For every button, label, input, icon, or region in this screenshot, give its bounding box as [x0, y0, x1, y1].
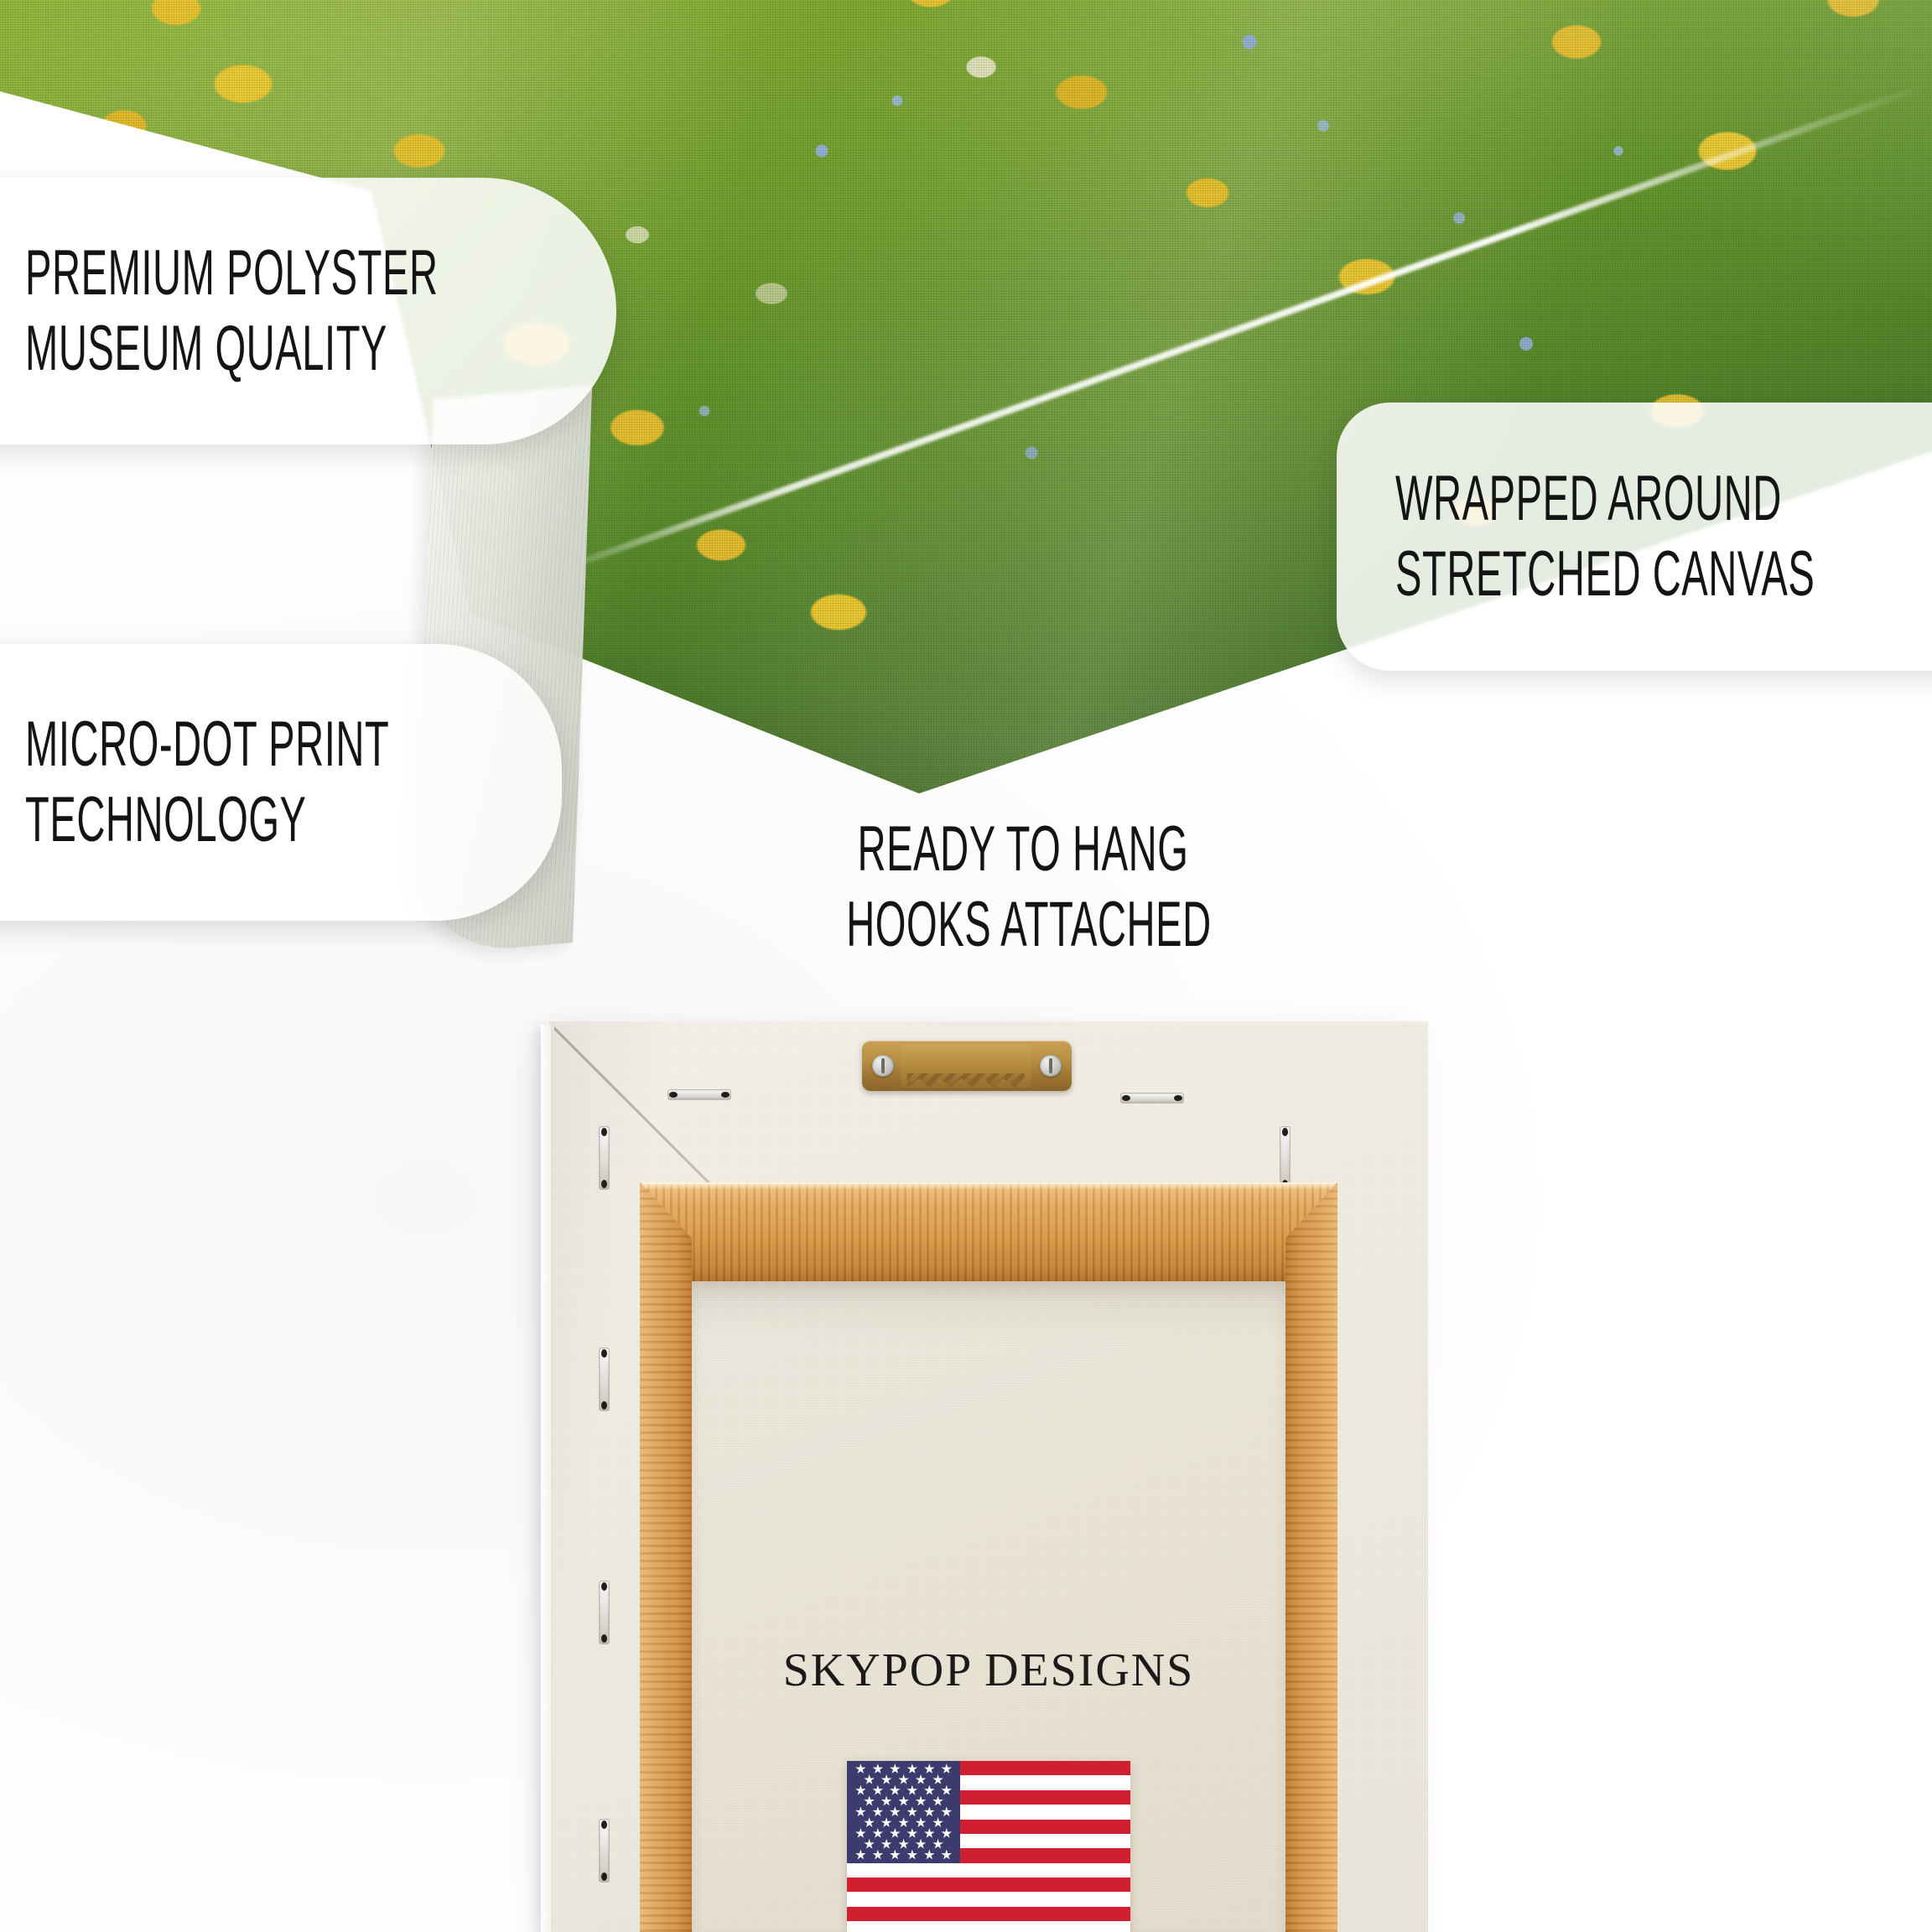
flag-star: [864, 1796, 875, 1807]
flag-star: [932, 1817, 943, 1828]
feature-badge-premium: PREMIUM POLYSTER MUSEUM QUALITY: [0, 178, 616, 444]
flag-star: [924, 1763, 935, 1774]
hanger-screw-right: [1040, 1055, 1062, 1077]
stretcher-bar-left: [640, 1182, 692, 1932]
flag-star: [872, 1850, 883, 1861]
product-infographic: PREMIUM POLYSTER MUSEUM QUALITY WRAPPED …: [0, 0, 1932, 1932]
feature-text-ready-line2: HOOKS ATTACHED: [846, 887, 1200, 963]
flag-stripe: [847, 1892, 1130, 1906]
flag-star: [941, 1763, 952, 1774]
feature-badge-wrapped-line1: WRAPPED AROUND: [1395, 461, 1769, 537]
flag-star: [941, 1850, 952, 1861]
flag-star: [855, 1785, 866, 1796]
sawtooth-hanger-icon: [862, 1041, 1072, 1091]
flag-canton: [847, 1761, 960, 1863]
flag-star: [881, 1817, 892, 1828]
flag-star: [890, 1850, 901, 1861]
flag-star: [932, 1796, 943, 1807]
wooden-stretcher-frame: SKYPOP DESIGNS: [640, 1182, 1337, 1932]
staple: [600, 1127, 609, 1189]
flag-star: [941, 1806, 952, 1817]
flag-star: [916, 1839, 927, 1850]
flag-star: [890, 1785, 901, 1796]
flag-star: [916, 1817, 927, 1828]
staple: [1121, 1093, 1183, 1103]
flag-star: [855, 1850, 866, 1861]
flag-star: [855, 1763, 866, 1774]
flag-star: [872, 1806, 883, 1817]
flag-star: [924, 1785, 935, 1796]
flag-star: [898, 1774, 909, 1785]
flag-star: [890, 1763, 901, 1774]
flag-star: [855, 1828, 866, 1839]
flag-star: [916, 1774, 927, 1785]
flag-star: [906, 1806, 917, 1817]
flag-stripe: [847, 1863, 1130, 1877]
flag-star: [872, 1785, 883, 1796]
staple: [600, 1820, 609, 1882]
canvas-wrap-lip: [541, 1025, 551, 1932]
brand-name: SKYPOP DESIGNS: [692, 1644, 1285, 1697]
flag-star: [881, 1839, 892, 1850]
hanger-screw-left: [872, 1055, 894, 1077]
stretcher-bar-top: [640, 1182, 1337, 1281]
flag-star: [924, 1850, 935, 1861]
feature-badge-wrapped-line2: STRETCHED CANVAS: [1395, 537, 1769, 612]
inner-canvas-field: SKYPOP DESIGNS: [692, 1281, 1285, 1932]
stretcher-bar-right: [1285, 1182, 1337, 1932]
flag-stripe: [847, 1907, 1130, 1921]
flag-stripe: [847, 1921, 1130, 1932]
flag-stripe: [847, 1877, 1130, 1892]
staple: [600, 1581, 609, 1644]
feature-badge-micro-dot-line2: TECHNOLOGY: [25, 782, 358, 858]
flag-star: [864, 1839, 875, 1850]
flag-star: [872, 1828, 883, 1839]
flag-star: [906, 1828, 917, 1839]
united-states-flag-icon: [847, 1761, 1130, 1932]
flag-star: [898, 1796, 909, 1807]
feature-badge-micro-dot: MICRO-DOT PRINT TECHNOLOGY: [0, 644, 562, 921]
flag-star: [932, 1774, 943, 1785]
feature-badge-micro-dot-line1: MICRO-DOT PRINT: [25, 707, 358, 782]
feature-badge-wrapped: WRAPPED AROUND STRETCHED CANVAS: [1337, 402, 1932, 671]
flag-star: [864, 1817, 875, 1828]
flag-star: [906, 1763, 917, 1774]
feature-text-ready-to-hang: READY TO HANG HOOKS ATTACHED: [738, 812, 1308, 962]
flag-star: [881, 1774, 892, 1785]
flag-star: [916, 1796, 927, 1807]
flag-star: [906, 1850, 917, 1861]
flag-star: [898, 1817, 909, 1828]
flag-star: [932, 1839, 943, 1850]
flag-star: [890, 1828, 901, 1839]
feature-badge-premium-line2: MUSEUM QUALITY: [25, 311, 392, 387]
flag-star: [872, 1763, 883, 1774]
flag-star: [881, 1796, 892, 1807]
flag-star: [924, 1806, 935, 1817]
flag-star: [890, 1806, 901, 1817]
flag-star: [855, 1806, 866, 1817]
flag-star: [906, 1785, 917, 1796]
staple: [1280, 1127, 1290, 1189]
flag-star: [941, 1828, 952, 1839]
feature-text-ready-line1: READY TO HANG: [846, 812, 1200, 887]
feature-badge-premium-line1: PREMIUM POLYSTER: [25, 236, 392, 311]
flag-star: [924, 1828, 935, 1839]
flag-star: [864, 1774, 875, 1785]
flag-star: [898, 1839, 909, 1850]
canvas-back-view: SKYPOP DESIGNS: [549, 1021, 1428, 1932]
staple: [600, 1348, 609, 1410]
flag-star: [941, 1785, 952, 1796]
staple: [668, 1090, 730, 1099]
